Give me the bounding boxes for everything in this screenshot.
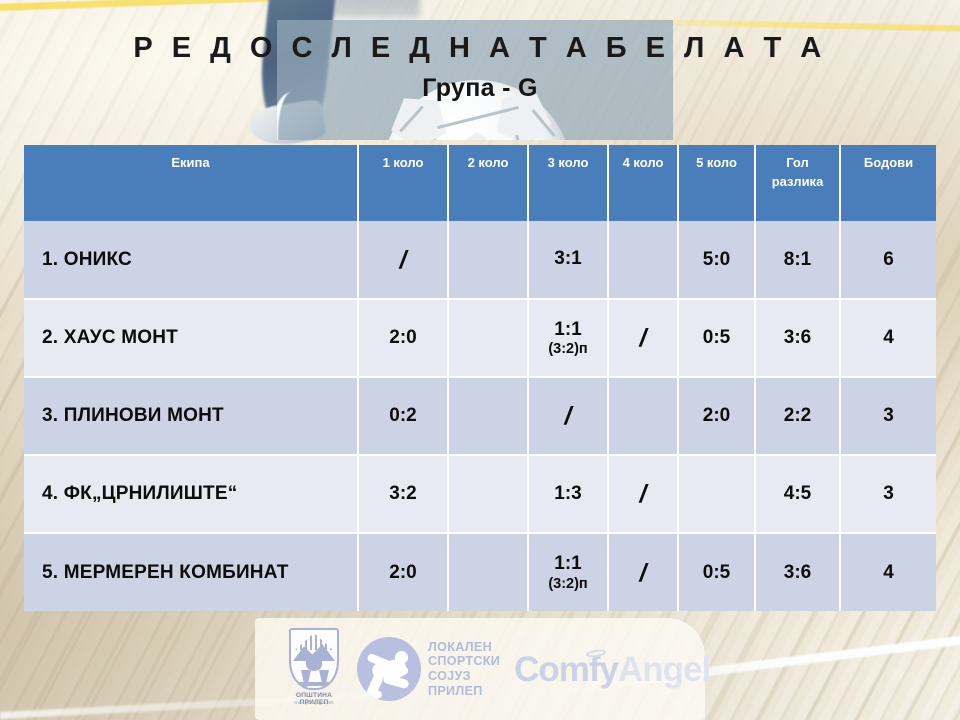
points: 4 [840,299,936,377]
goal-difference: 3:6 [755,299,840,377]
result-round-4 [608,221,678,299]
result-round-2 [448,299,528,377]
crest-sun-rays [295,633,333,650]
crest-urn [306,658,322,671]
result-value: / [565,402,572,430]
municipality-logo: ОПШТИНА ПРИЛЕП www.prilep.gov.mk [281,624,347,714]
lss-line-1: ЛОКАЛЕН [428,640,500,655]
result-round-2 [448,533,528,611]
column-header-round-1: 1 коло [358,145,448,221]
result-value: / [640,480,647,508]
page-subtitle: Група - G [0,74,960,103]
result-round-3: 1:3 [528,455,608,533]
local-sports-union-logo: ЛОКАЛЕН СПОРТСКИ СОЈУЗ ПРИЛЕП [357,637,500,701]
coat-of-arms-icon [289,628,339,690]
result-round-1: 0:2 [358,377,448,455]
standings-table-body: 1. ОНИКС / 3:1 5:0 8:1 6 2. ХАУС МОНТ 2:… [24,221,936,611]
result-round-4: / [608,455,678,533]
result-round-2 [448,377,528,455]
column-header-round-2: 2 коло [448,145,528,221]
lss-line-2: СПОРТСКИ [428,654,500,669]
result-round-3: 1:1 (3:2)п [528,533,608,611]
comfy-angel-logo: ComfyAngel [514,652,710,687]
team-name: 5. МЕРМЕРЕН КОМБИНАТ [24,533,358,611]
municipality-url: www.prilep.gov.mk [281,700,347,705]
result-round-5: 0:5 [678,533,755,611]
result-round-2 [448,455,528,533]
result-value: 1:1 [532,553,604,574]
goal-difference: 8:1 [755,221,840,299]
result-round-4: / [608,533,678,611]
team-name: 4. ФК„ЦРНИЛИШТЕ“ [24,455,358,533]
table-row: 1. ОНИКС / 3:1 5:0 8:1 6 [24,221,936,299]
result-value: 1:1 [532,319,604,340]
table-header-row: Екипа 1 коло 2 коло 3 коло 4 коло 5 коло… [24,145,936,221]
result-round-5: 5:0 [678,221,755,299]
title-block: Р Е Д О С Л Е Д Н А Т А Б Е Л А Т А Груп… [0,34,960,103]
result-round-4 [608,377,678,455]
column-header-round-3: 3 коло [528,145,608,221]
result-value: / [640,559,647,587]
local-sports-union-name: ЛОКАЛЕН СПОРТСКИ СОЈУЗ ПРИЛЕП [428,640,500,698]
result-round-3: 3:1 [528,221,608,299]
angel-text: Angel [618,650,710,689]
result-round-1: 3:2 [358,455,448,533]
points: 3 [840,455,936,533]
result-round-1: 2:0 [358,299,448,377]
sponsor-logo-strip: ОПШТИНА ПРИЛЕП www.prilep.gov.mk ЛОКАЛЕН… [255,618,705,720]
column-header-round-4: 4 коло [608,145,678,221]
result-round-5: 0:5 [678,299,755,377]
result-round-4: / [608,299,678,377]
goal-difference: 3:6 [755,533,840,611]
result-value: / [640,324,647,352]
table-row: 2. ХАУС МОНТ 2:0 1:1 (3:2)п / 0:5 3:6 4 [24,299,936,377]
result-value: / [400,246,407,274]
result-round-5 [678,455,755,533]
lss-line-3: СОЈУЗ [428,669,500,684]
points: 3 [840,377,936,455]
lss-line-4: ПРИЛЕП [428,684,500,699]
goal-difference: 4:5 [755,455,840,533]
runner-icon [357,637,421,701]
result-value: 3:1 [532,248,604,269]
result-round-1: / [358,221,448,299]
result-round-3: / [528,377,608,455]
runner-foot [366,690,383,700]
result-round-3: 1:1 (3:2)п [528,299,608,377]
page-title: Р Е Д О С Л Е Д Н А Т А Б Е Л А Т А [0,34,960,63]
crest-base-bar [296,682,334,686]
result-round-1: 2:0 [358,533,448,611]
goal-difference-label-line-2: разлика [772,174,824,189]
table-row: 3. ПЛИНОВИ МОНТ 0:2 / 2:0 2:2 3 [24,377,936,455]
runner-leg [382,674,409,690]
column-header-round-5: 5 коло [678,145,755,221]
goal-difference: 2:2 [755,377,840,455]
column-header-team: Екипа [24,145,358,221]
standings-table-container: Екипа 1 коло 2 коло 3 коло 4 коло 5 коло… [24,145,936,611]
goal-difference-label-line-1: Гол [786,155,809,170]
table-row: 5. МЕРМЕРЕН КОМБИНАТ 2:0 1:1 (3:2)п / 0:… [24,533,936,611]
team-name: 3. ПЛИНОВИ МОНТ [24,377,358,455]
result-penalty: (3:2)п [532,576,604,592]
table-row: 4. ФК„ЦРНИЛИШТЕ“ 3:2 1:3 / 4:5 3 [24,455,936,533]
result-penalty: (3:2)п [532,341,604,357]
column-header-points: Бодови [840,145,936,221]
slide-canvas: Р Е Д О С Л Е Д Н А Т А Б Е Л А Т А Груп… [0,0,960,720]
standings-table: Екипа 1 коло 2 коло 3 коло 4 коло 5 коло… [24,145,936,611]
result-round-5: 2:0 [678,377,755,455]
result-round-2 [448,221,528,299]
team-name: 2. ХАУС МОНТ [24,299,358,377]
points: 4 [840,533,936,611]
points: 6 [840,221,936,299]
team-name: 1. ОНИКС [24,221,358,299]
column-header-goal-difference: Гол разлика [755,145,840,221]
